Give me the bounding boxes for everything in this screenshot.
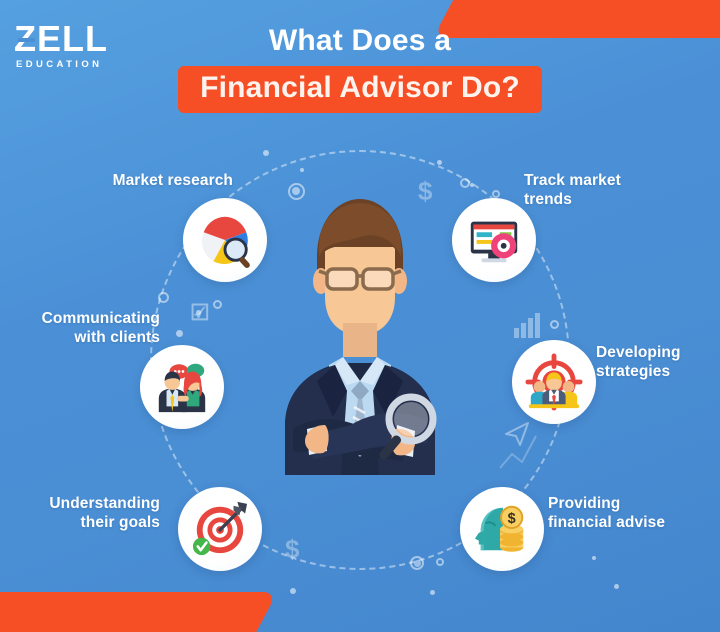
label-line-2: trends — [524, 191, 704, 210]
label-line-2: strategies — [596, 363, 720, 382]
dot-decoration — [263, 150, 269, 156]
dot-decoration — [614, 584, 619, 589]
head-coins-icon: $ — [473, 500, 531, 558]
logo-letters-ell: ELL — [37, 22, 108, 56]
label-line-2: with clients — [0, 329, 160, 348]
label-developing-strategies: Developing strategies — [596, 344, 720, 382]
dot-decoration — [470, 183, 474, 187]
label-track-market-trends: Track market trends — [524, 172, 704, 210]
label-line-1: Track market — [524, 172, 704, 191]
ring-dot-decoration — [414, 560, 421, 567]
node-communicating-with-clients[interactable] — [140, 345, 224, 429]
logo-subtitle: EDUCATION — [14, 59, 108, 70]
node-understanding-their-goals[interactable] — [178, 487, 262, 571]
headline-block: What Does a Financial Advisor Do? — [0, 24, 720, 113]
ring-decoration — [213, 300, 222, 309]
label-understanding-their-goals: Understanding their goals — [10, 495, 160, 533]
infographic-canvas: $ $ ☑ ZELL EDUCATION What Does a Financi… — [0, 0, 720, 632]
headline-line-2-banner: Financial Advisor Do? — [178, 66, 542, 113]
target-arrow-icon — [191, 500, 249, 558]
ring-decoration — [550, 320, 559, 329]
svg-text:$: $ — [508, 511, 516, 527]
label-market-research: Market research — [18, 172, 233, 191]
label-providing-financial-advise: Providing financial advise — [548, 495, 720, 533]
dot-decoration — [290, 588, 296, 594]
label-line-2: financial advise — [548, 514, 720, 533]
label-line-1: Communicating — [0, 310, 160, 329]
node-market-research[interactable] — [183, 198, 267, 282]
node-track-market-trends[interactable] — [452, 198, 536, 282]
bar-chart-decoration — [513, 312, 547, 338]
node-developing-strategies[interactable] — [512, 340, 596, 424]
bottom-left-accent-shape — [0, 592, 278, 632]
logo-wordmark: ZELL — [14, 22, 108, 56]
dot-decoration — [176, 330, 183, 337]
monitor-analytics-icon — [465, 211, 523, 269]
dot-decoration — [430, 590, 435, 595]
brand-logo[interactable]: ZELL EDUCATION — [14, 22, 108, 70]
ring-decoration — [158, 292, 169, 303]
dot-decoration — [300, 168, 304, 172]
label-line-2: their goals — [10, 514, 160, 533]
dot-decoration — [437, 160, 442, 165]
label-communicating-with-clients: Communicating with clients — [0, 310, 160, 348]
financial-advisor-illustration — [255, 185, 465, 475]
dot-decoration — [592, 556, 596, 560]
pie-chart-magnifier-icon — [196, 211, 254, 269]
label-line-1: Developing — [596, 344, 720, 363]
growth-arrow-decoration — [498, 430, 538, 470]
headline-line-1: What Does a — [0, 24, 720, 59]
label-line-1: Providing — [548, 495, 720, 514]
checkbox-glyph-decoration: ☑ — [190, 300, 210, 326]
paper-plane-decoration — [503, 420, 531, 448]
people-talking-icon — [153, 358, 211, 416]
ring-decoration — [492, 190, 500, 198]
team-target-icon — [525, 353, 583, 411]
logo-letter-z: Z — [14, 22, 37, 56]
dollar-glyph-decoration: $ — [285, 534, 299, 565]
ring-decoration — [436, 558, 444, 566]
node-providing-financial-advise[interactable]: $ — [460, 487, 544, 571]
label-line-1: Understanding — [10, 495, 160, 514]
